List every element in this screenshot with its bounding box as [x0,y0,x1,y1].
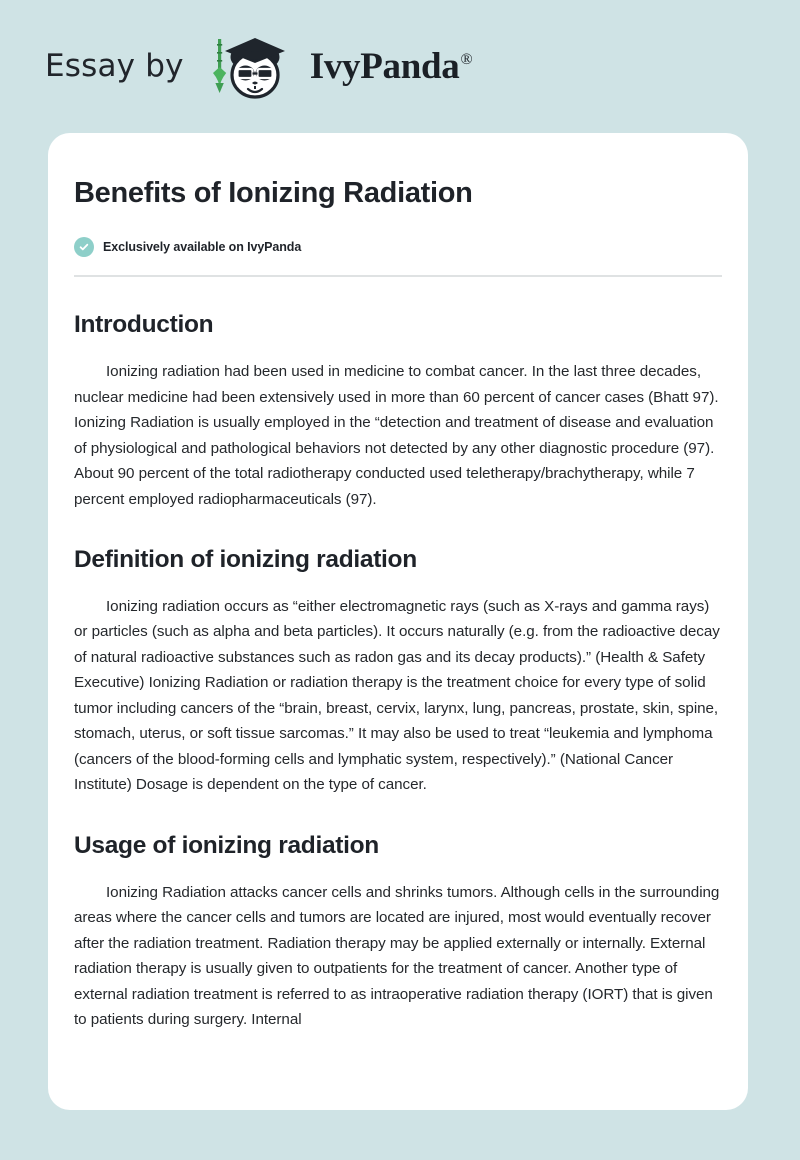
status-badge-label: Exclusively available on IvyPanda [103,240,301,254]
essay-paper-card: Benefits of Ionizing Radiation Exclusive… [48,133,748,1110]
section-heading-introduction: Introduction [74,309,722,341]
ivypanda-logo-lockup[interactable]: Essay by [45,31,472,103]
section-paragraph-definition: Ionizing radiation occurs as “either ele… [74,594,722,798]
section-heading-usage: Usage of ionizing radiation [74,830,722,862]
brand-header: Essay by [0,0,800,133]
section-paragraph-usage: Ionizing Radiation attacks cancer cells … [74,880,722,1033]
status-badge: Exclusively available on IvyPanda [74,237,722,257]
page-title: Benefits of Ionizing Radiation [74,167,722,211]
section-heading-definition: Definition of ionizing radiation [74,544,722,576]
brand-name-text: IvyPanda [310,46,460,87]
section-paragraph-introduction: Ionizing radiation had been used in medi… [74,359,722,512]
check-circle-icon [74,237,94,257]
registered-trademark-symbol: ® [460,51,472,68]
panda-graduate-logo-icon [200,31,304,103]
brand-name: IvyPanda® [310,48,473,85]
header-divider [74,275,722,277]
essay-by-label: Essay by [45,51,184,82]
